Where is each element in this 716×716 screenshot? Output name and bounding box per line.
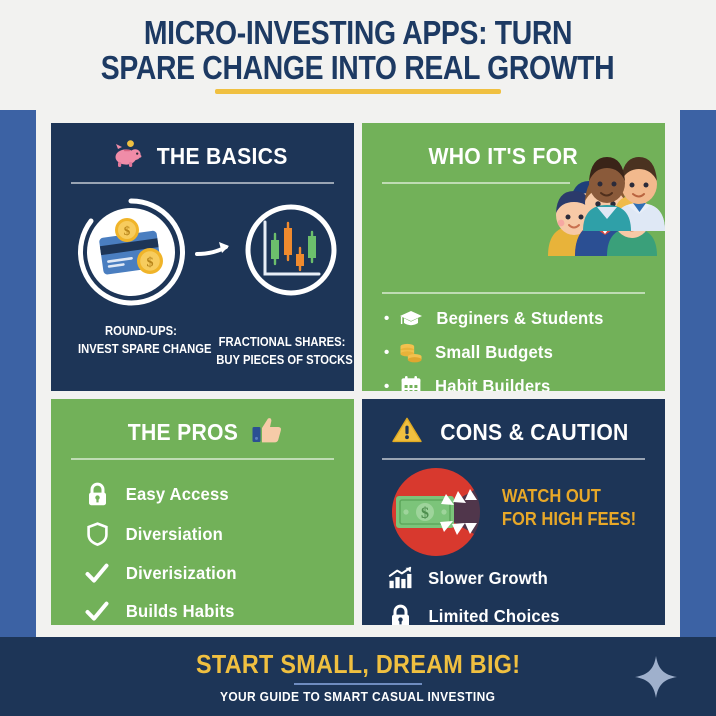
piggy-bank-icon	[112, 140, 142, 173]
warning-triangle-icon	[391, 416, 423, 449]
audience-divider-bottom	[382, 292, 645, 294]
cons-divider	[382, 458, 645, 460]
pros-list: Easy Access Diversiation	[67, 482, 338, 622]
thumbs-up-icon	[252, 416, 282, 449]
panels-grid: THE BASICS	[51, 123, 665, 625]
list-item: Diversiation	[85, 522, 338, 546]
basics-captions: ROUND-UPS: INVEST SPARE CHANGE FRACTIONA…	[67, 320, 338, 370]
list-item-label: Beginers & Students	[436, 308, 603, 329]
bullet-dot: •	[384, 311, 390, 326]
cons-warning-line-2: FOR HIGH FEES!	[502, 509, 636, 530]
bullet-dot: •	[384, 345, 390, 360]
footer-subtitle: YOUR GUIDE TO SMART CASUAL INVESTING	[220, 689, 495, 704]
list-item: •	[384, 341, 649, 363]
arrow-right-icon	[195, 240, 235, 267]
cons-warning-block: $	[378, 466, 649, 558]
basics-left-caption-2: INVEST SPARE CHANGE	[78, 340, 204, 358]
svg-text:$: $	[421, 505, 429, 522]
footer-rule	[294, 683, 422, 685]
infographic-root: MICRO-INVESTING APPS: TURN SPARE CHANGE …	[0, 0, 716, 716]
svg-text:$: $	[124, 223, 131, 238]
list-item: Diverisization	[85, 562, 338, 584]
list-item: Easy Access	[85, 482, 338, 506]
check-icon	[85, 600, 109, 622]
check-icon	[85, 562, 109, 584]
shield-icon	[85, 522, 109, 546]
calendar-icon	[399, 375, 423, 391]
sparkle-icon	[634, 655, 678, 704]
cons-title: CONS & CAUTION	[440, 419, 628, 446]
list-item: •	[384, 375, 649, 391]
svg-text:$: $	[147, 256, 154, 271]
list-item-label: Builds Habits	[126, 601, 235, 622]
cons-list: Slower Growth Limited Choices	[378, 566, 649, 625]
list-item-label: Small Budgets	[435, 342, 553, 363]
lock-icon	[388, 604, 412, 625]
list-item-label: Slower Growth	[428, 568, 548, 589]
pros-divider	[71, 458, 334, 460]
list-item: Builds Habits	[85, 600, 338, 622]
basics-title: THE BASICS	[157, 143, 288, 170]
list-item: • Beginers & Students	[384, 308, 649, 329]
money-eating-mouth-icon: $	[384, 464, 488, 565]
panels-card: THE BASICS	[36, 110, 680, 637]
list-item-label: Habit Builders	[435, 376, 550, 392]
panel-the-pros: THE PROS	[51, 399, 354, 625]
list-item-label: Diversiation	[126, 524, 223, 545]
coin-stack-icon	[399, 341, 423, 363]
page-title-line-1: MICRO-INVESTING APPS: TURN	[144, 16, 572, 50]
basics-header: THE BASICS	[67, 137, 338, 175]
candlestick-chart-icon	[239, 198, 343, 307]
audience-divider-top	[382, 182, 570, 184]
cons-header: CONS & CAUTION	[378, 413, 649, 451]
cons-warning-line-1: WATCH OUT	[502, 486, 636, 507]
group-of-people-icon	[547, 131, 665, 261]
list-item-label: Limited Choices	[428, 606, 559, 626]
basics-divider	[71, 182, 334, 184]
basics-left-caption-1: ROUND-UPS:	[78, 322, 204, 340]
basics-right-caption-2: BUY PIECES OF STOCKS	[216, 351, 347, 369]
pros-header: THE PROS	[67, 413, 338, 451]
page-title-line-2: SPARE CHANGE INTO REAL GROWTH	[101, 51, 615, 85]
bar-chart-up-icon	[388, 566, 412, 590]
title-underline	[215, 89, 501, 94]
header: MICRO-INVESTING APPS: TURN SPARE CHANGE …	[0, 0, 716, 110]
list-item: Limited Choices	[388, 604, 649, 625]
footer: START SMALL, DREAM BIG! YOUR GUIDE TO SM…	[0, 637, 716, 716]
graduation-cap-icon	[399, 309, 423, 329]
footer-title: START SMALL, DREAM BIG!	[196, 649, 520, 680]
panel-who-its-for: WHO IT'S FOR	[362, 123, 665, 391]
audience-list: • Beginers & Students •	[378, 308, 649, 391]
credit-card-with-coins-icon: $ $	[75, 194, 187, 311]
list-item-label: Diverisization	[126, 563, 237, 584]
list-item-label: Easy Access	[126, 484, 229, 505]
bullet-dot: •	[384, 379, 390, 392]
basics-right-caption-1: FRACTIONAL SHARES:	[216, 333, 347, 351]
panel-the-basics: THE BASICS	[51, 123, 354, 391]
basics-illustrations: $ $	[67, 192, 338, 320]
list-item: Slower Growth	[388, 566, 649, 590]
panel-cons-caution: CONS & CAUTION $	[362, 399, 665, 625]
lock-icon	[85, 482, 109, 506]
pros-title: THE PROS	[128, 419, 238, 446]
